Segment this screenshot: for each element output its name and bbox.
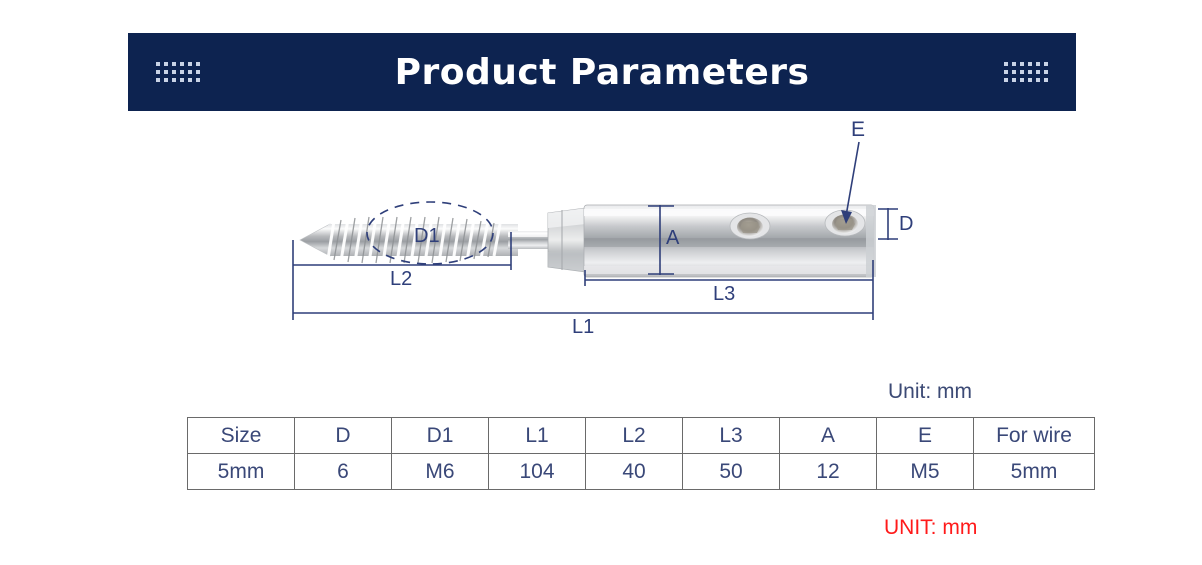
cell-d1: M6 <box>392 454 489 490</box>
cell-d: 6 <box>295 454 392 490</box>
cell-size: 5mm <box>188 454 295 490</box>
table-header-row: Size D D1 L1 L2 L3 A E For wire <box>188 418 1095 454</box>
cell-l3: 50 <box>683 454 780 490</box>
label-l3: L3 <box>713 283 735 306</box>
table-row: 5mm 6 M6 104 40 50 12 M5 5mm <box>188 454 1095 490</box>
set-screw-1-graphic <box>730 213 770 239</box>
technical-drawing: D1 L2 L3 L1 A D E <box>0 120 1202 360</box>
unit-note-bottom: UNIT: mm <box>884 516 977 540</box>
cell-for-wire: 5mm <box>974 454 1095 490</box>
column-header-l2: L2 <box>586 418 683 454</box>
page-title: Product Parameters <box>128 33 1076 111</box>
label-d: D <box>899 213 913 236</box>
cell-e: M5 <box>877 454 974 490</box>
label-d1: D1 <box>414 225 440 248</box>
label-l1: L1 <box>572 316 594 339</box>
dot-grid-right-icon <box>1004 62 1048 82</box>
column-header-l1: L1 <box>489 418 586 454</box>
hex-nut-graphic <box>548 208 586 272</box>
column-header-e: E <box>877 418 974 454</box>
unit-note-top: Unit: mm <box>888 380 972 404</box>
specification-table: Size D D1 L1 L2 L3 A E For wire 5mm 6 M6… <box>187 417 1095 490</box>
product-parameters-page: Product Parameters <box>0 0 1202 565</box>
cell-l1: 104 <box>489 454 586 490</box>
column-header-for-wire: For wire <box>974 418 1095 454</box>
label-e: E <box>851 118 865 142</box>
cell-l2: 40 <box>586 454 683 490</box>
column-header-a: A <box>780 418 877 454</box>
cell-a: 12 <box>780 454 877 490</box>
label-a: A <box>666 227 679 250</box>
column-header-d1: D1 <box>392 418 489 454</box>
column-header-size: Size <box>188 418 295 454</box>
header-banner: Product Parameters <box>128 33 1076 111</box>
label-l2: L2 <box>390 268 412 291</box>
column-header-d: D <box>295 418 392 454</box>
dot-grid-left-icon <box>156 62 200 82</box>
column-header-l3: L3 <box>683 418 780 454</box>
